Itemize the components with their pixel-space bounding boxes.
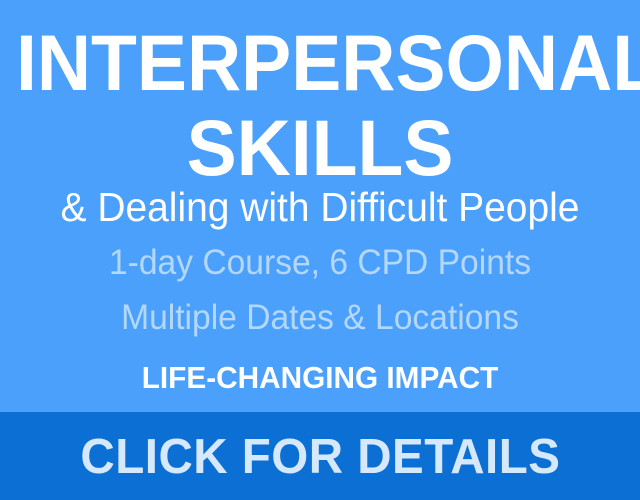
- banner-tagline: LIFE-CHANGING IMPACT: [13, 360, 627, 396]
- banner-subtitle: & Dealing with Difficult People: [16, 184, 624, 230]
- headline-line-2: SKILLS: [16, 107, 624, 189]
- cta-button-label: CLICK FOR DETAILS: [80, 431, 560, 483]
- headline-line-1: INTERPERSONAL: [16, 22, 624, 104]
- cta-button[interactable]: CLICK FOR DETAILS: [0, 412, 640, 500]
- banner-message-block: INTERPERSONAL SKILLS & Dealing with Diff…: [0, 0, 640, 412]
- detail-course-info: 1-day Course, 6 CPD Points: [13, 243, 627, 283]
- advertisement-banner[interactable]: INTERPERSONAL SKILLS & Dealing with Diff…: [0, 0, 640, 500]
- detail-dates-locations: Multiple Dates & Locations: [13, 298, 627, 338]
